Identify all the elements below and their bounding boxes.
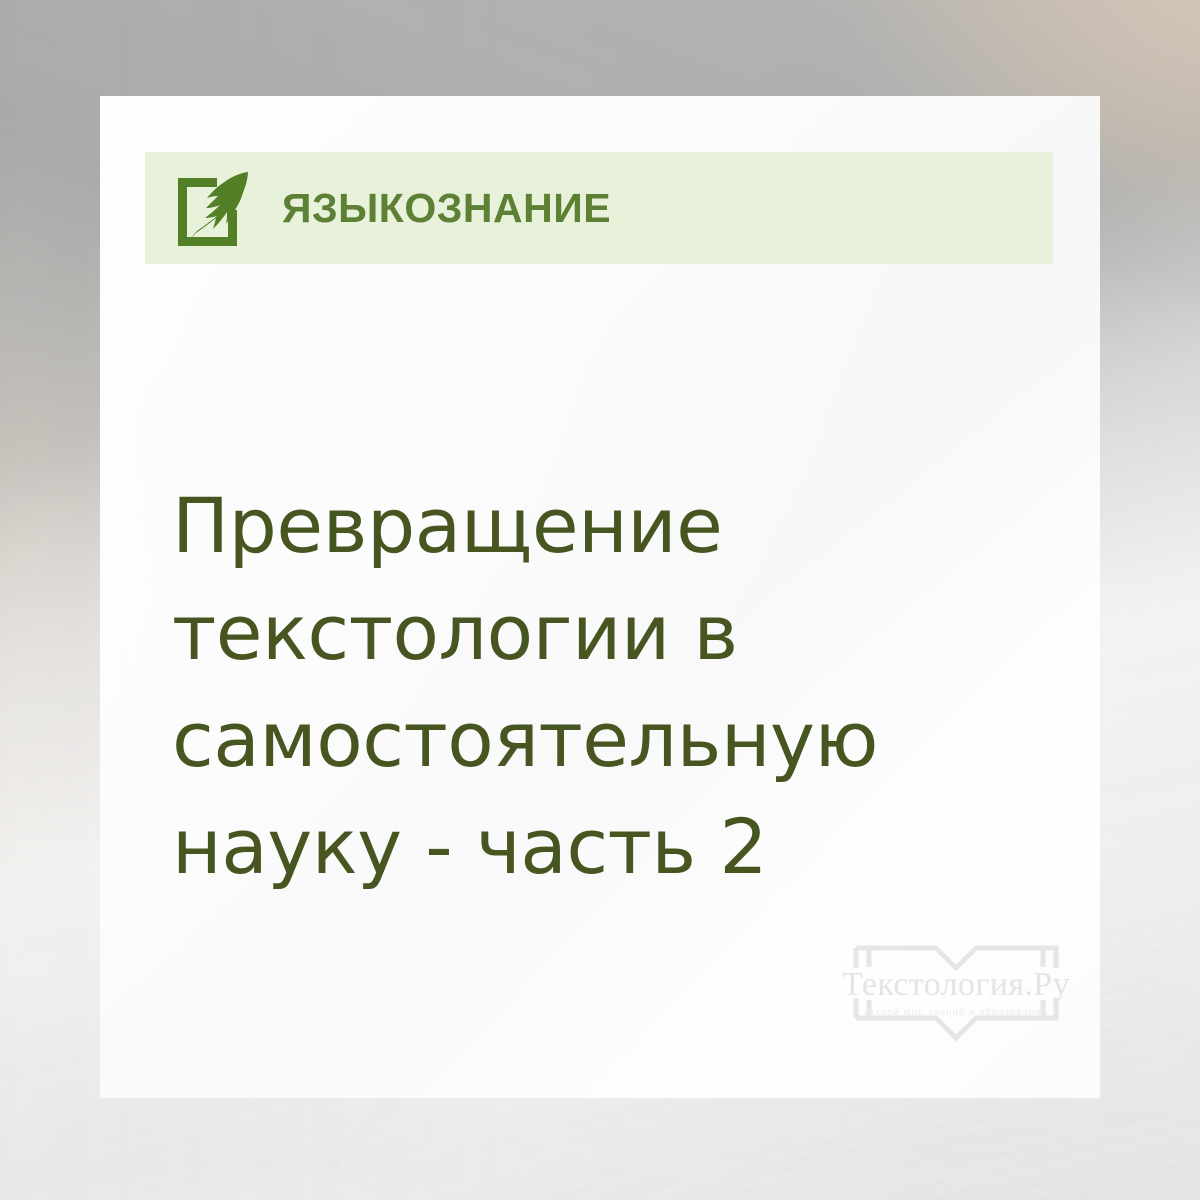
content-card: ЯЗЫКОЗНАНИЕ Превращение текстологии в са…: [100, 96, 1100, 1098]
category-badge-label: ЯЗЫКОЗНАНИЕ: [282, 188, 611, 229]
quill-in-square-icon: [170, 170, 252, 246]
article-title: Превращение текстологии в самостоятельну…: [172, 472, 932, 900]
poster-canvas: ЯЗЫКОЗНАНИЕ Превращение текстологии в са…: [0, 0, 1200, 1200]
watermark-brand: Текстология.Ру: [836, 968, 1076, 1002]
watermark-tagline: открой мир знаний и образования: [836, 1008, 1076, 1018]
site-watermark: Текстология.Ру открой мир знаний и образ…: [836, 934, 1076, 1052]
category-badge[interactable]: ЯЗЫКОЗНАНИЕ: [145, 152, 1053, 264]
